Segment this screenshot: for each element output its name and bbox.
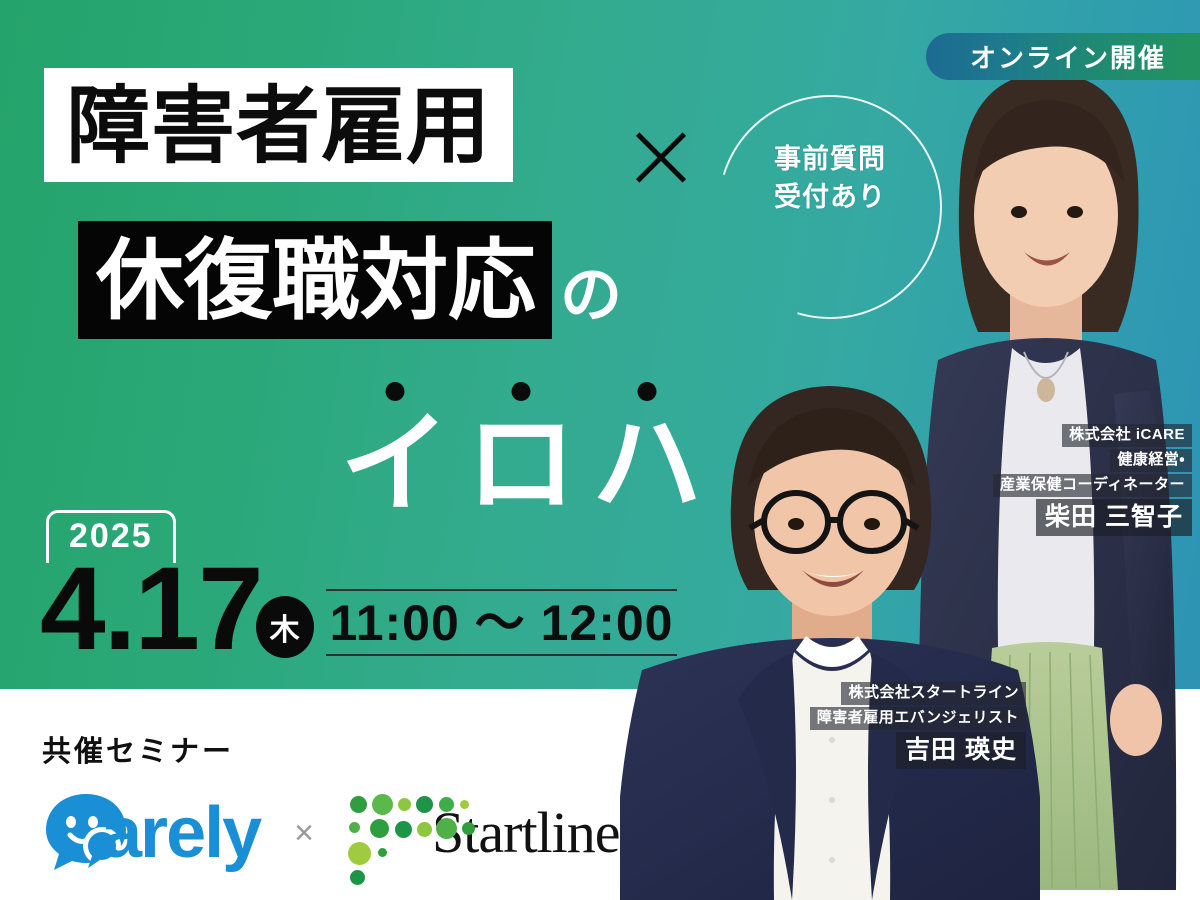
- carely-logo: arely: [40, 790, 260, 876]
- speaker-plate-shibata: 株式会社 iCARE 健康経営・ 産業保健コーディネーター 柴田 三智子: [993, 424, 1192, 538]
- headline-line3-char: ロ: [466, 382, 576, 520]
- headline-line2-wrap: 休復職対応 の: [78, 221, 622, 339]
- speaker-title-line1: 障害者雇用エバンジェリスト: [810, 707, 1026, 730]
- carely-wordmark: arely: [102, 797, 260, 869]
- headline-line3-char: ハ: [592, 382, 702, 520]
- event-time: 11:00 〜 12:00: [330, 597, 674, 650]
- headline-line2-box: 休復職対応: [78, 221, 552, 339]
- startline-dots-icon: [348, 794, 426, 872]
- speaker-name: 吉田 瑛史: [896, 732, 1026, 769]
- pre-question-note: 事前質問 受付あり: [718, 140, 942, 217]
- speaker-plate-yoshida: 株式会社スタートライン 障害者雇用エバンジェリスト 吉田 瑛史: [810, 682, 1026, 771]
- online-badge: オンライン開催: [926, 33, 1200, 80]
- headline-line1-box: 障害者雇用: [44, 68, 513, 182]
- speaker-company: 株式会社 iCARE: [1062, 424, 1192, 447]
- startline-wordmark: Startline: [432, 804, 620, 862]
- headline-line1: 障害者雇用: [66, 84, 491, 168]
- headline-line3-char: イ: [340, 382, 450, 520]
- pre-question-line1: 事前質問: [718, 140, 942, 178]
- headline-line3: イ ロ ハ: [340, 382, 718, 520]
- speaker-name: 柴田 三智子: [1036, 499, 1192, 536]
- headline-line2-suffix: の: [560, 265, 622, 339]
- logo-separator-icon: ×: [294, 814, 314, 853]
- co-host-label: 共催セミナー: [42, 728, 234, 770]
- speaker-title-line2: 産業保健コーディネーター: [993, 474, 1192, 497]
- event-day: 4.17: [40, 555, 262, 664]
- webinar-banner: オンライン開催 事前質問 受付あり 障害者雇用 休復職対応 の イ ロ ハ 20…: [0, 0, 1200, 900]
- footer-logos: arely × Startline: [40, 790, 620, 876]
- event-date-row: 4.17 木 11:00 〜 12:00: [40, 555, 677, 664]
- event-weekday-badge: 木: [256, 596, 314, 658]
- cross-icon: [628, 124, 694, 190]
- speaker-title-line1: 健康経営・: [1110, 449, 1192, 472]
- pre-question-line2: 受付あり: [718, 178, 942, 216]
- startline-logo: Startline: [348, 794, 620, 872]
- event-time-box: 11:00 〜 12:00: [326, 589, 678, 656]
- headline-line2: 休復職対応: [96, 237, 536, 325]
- speaker-company: 株式会社スタートライン: [841, 682, 1026, 705]
